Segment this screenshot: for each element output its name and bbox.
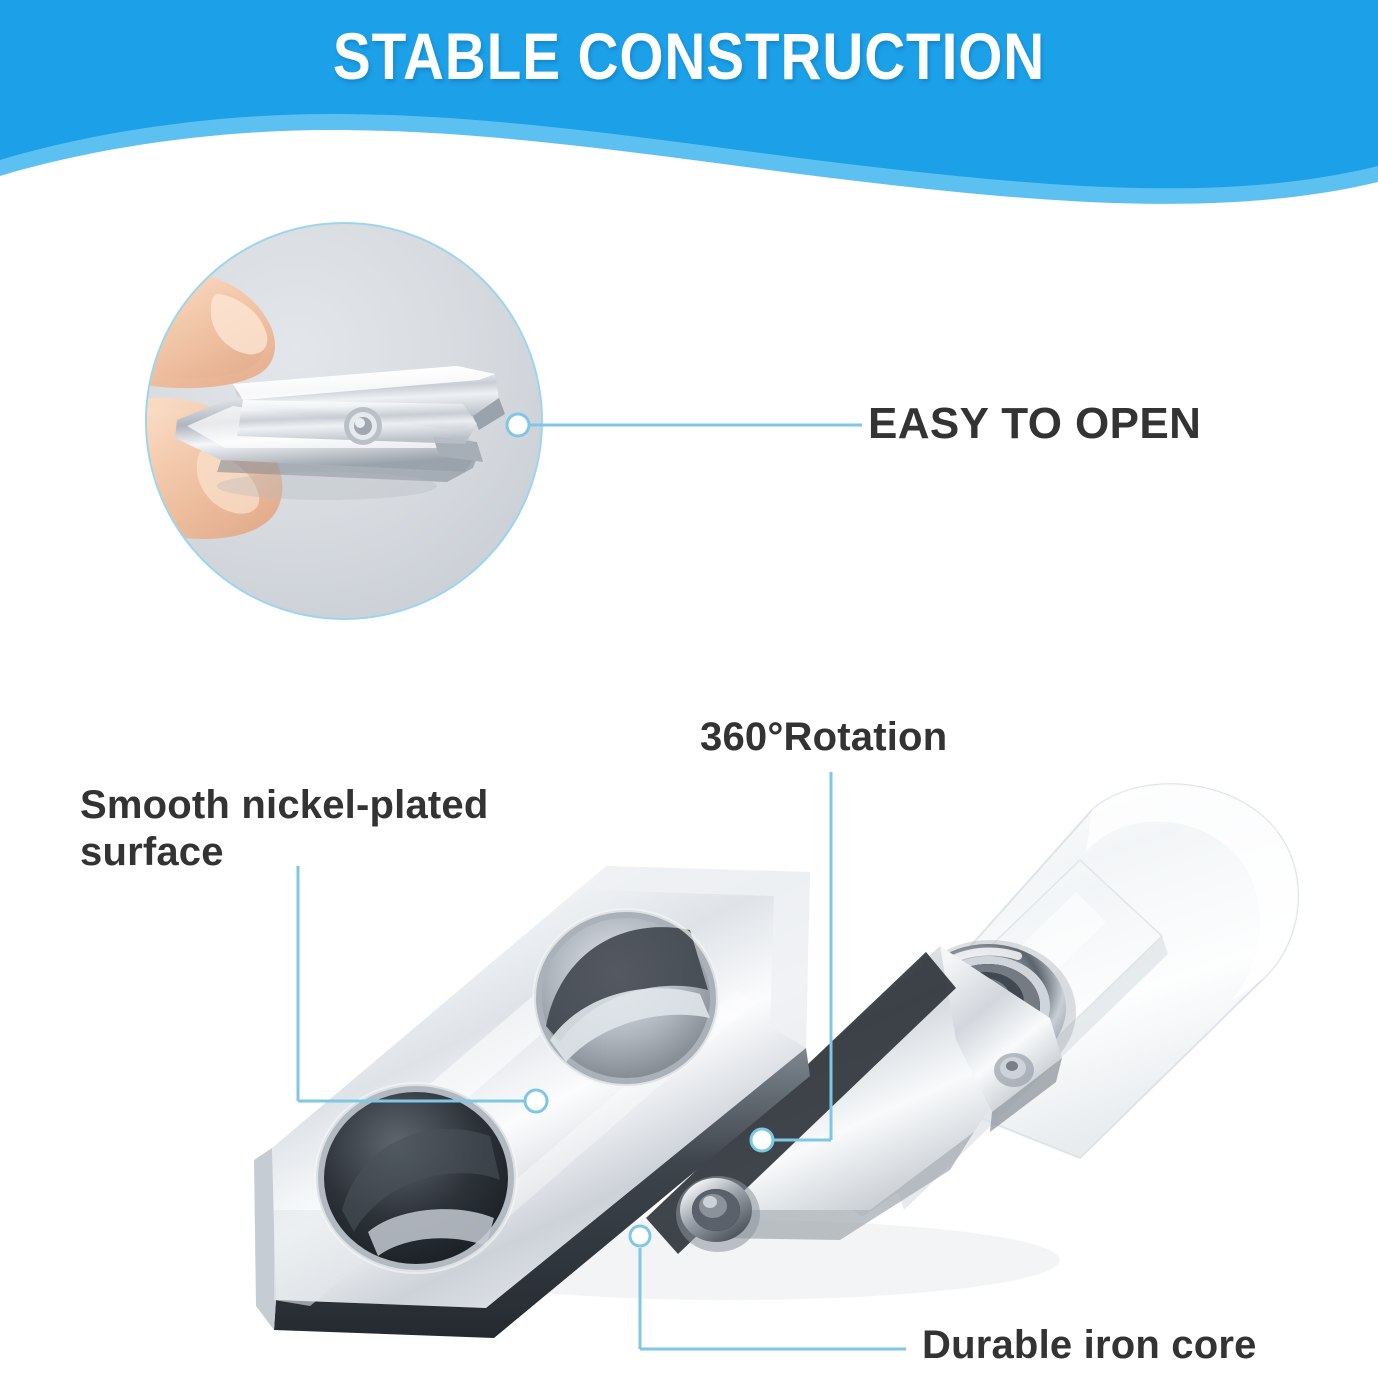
callout-label-easy-to-open: EASY TO OPEN [868,398,1201,450]
hand-holding-clip-illustration [147,224,543,620]
secondary-rivet [994,1053,1034,1087]
header-banner: STABLE CONSTRUCTION [0,0,1378,215]
pivot-rivet [676,1176,760,1252]
infographic-canvas: STABLE CONSTRUCTION [0,0,1378,1378]
callout-label-360-rotation: 360°Rotation [700,714,947,761]
clip-hole-upper [534,910,718,1086]
callout-label-smooth-nickel-plated-surface: Smooth nickel-plated surface [80,782,489,876]
inset-photo-easy-to-open [145,222,543,620]
callout-label-durable-iron-core: Durable iron core [922,1322,1257,1369]
clip-hole-lower [316,1084,516,1272]
leader-easy-open [507,414,862,436]
page-title: STABLE CONSTRUCTION [96,18,1281,94]
